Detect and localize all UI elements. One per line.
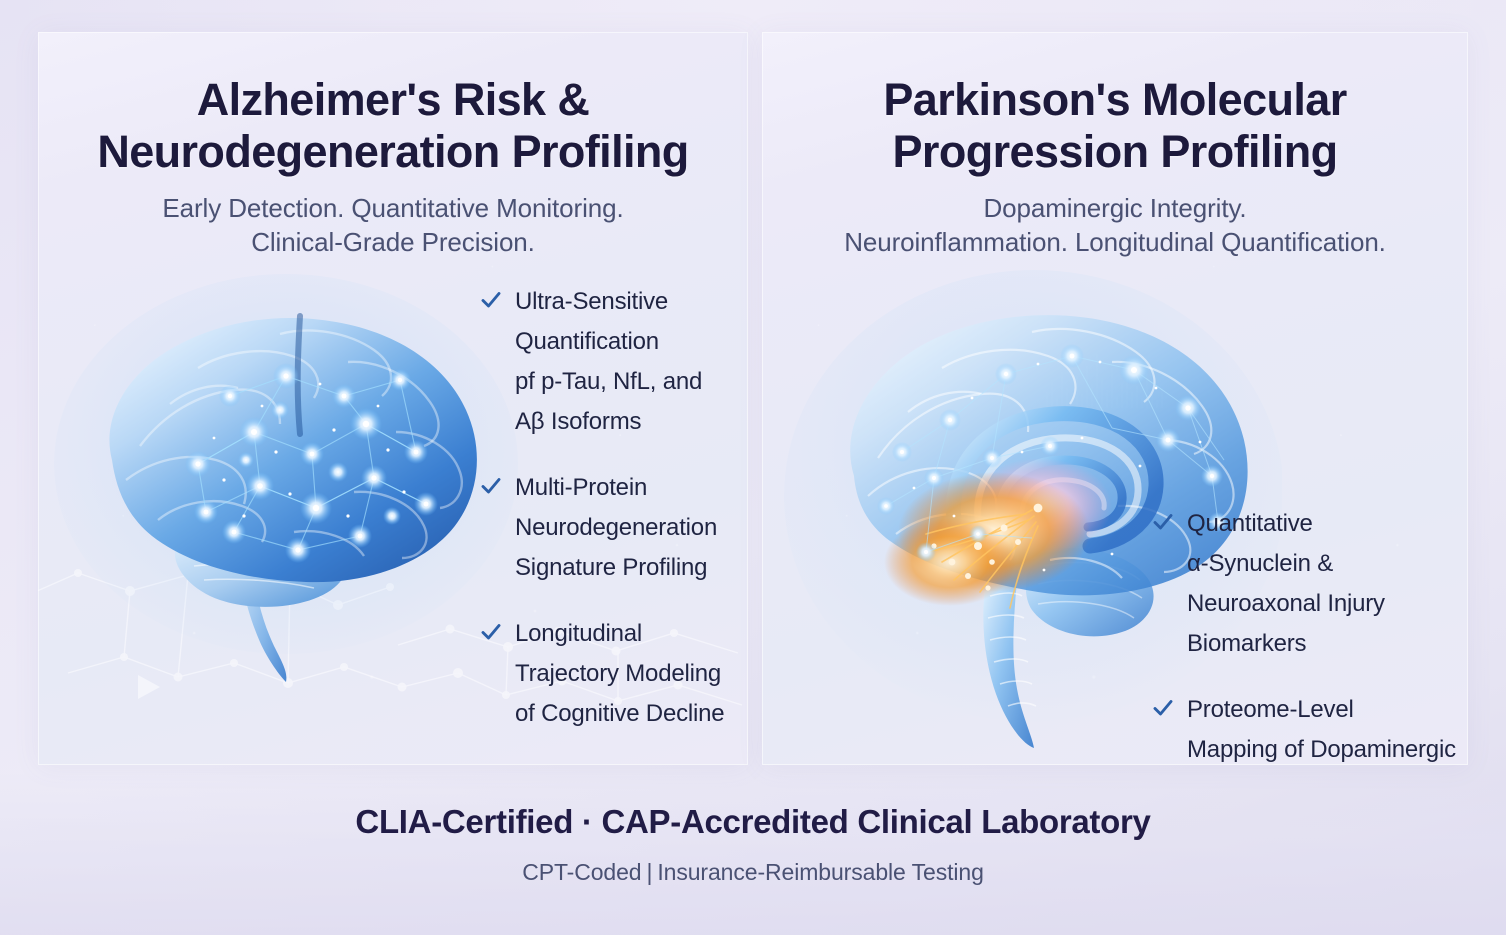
feature-label: Ultra-Sensitive Quantification pf p-Tau,… [515, 282, 702, 442]
feature-label: Longitudinal Trajectory Modeling of Cogn… [515, 614, 724, 734]
feature-list-parkinsons: Quantitative α-Synuclein & Neuroaxonal I… [1152, 504, 1462, 765]
page-title-alzheimers: Alzheimer's Risk & Neurodegeneration Pro… [38, 74, 748, 178]
footer-separator: | [641, 859, 657, 885]
check-icon [480, 475, 502, 497]
panel-parkinsons: Parkinson's Molecular Progression Profil… [762, 32, 1468, 765]
check-icon [1152, 511, 1174, 533]
panel-header-alzheimers: Alzheimer's Risk & Neurodegeneration Pro… [38, 74, 748, 259]
footer-cpt-label: CPT-Coded [522, 859, 641, 885]
feature-label: Quantitative α-Synuclein & Neuroaxonal I… [1187, 504, 1385, 664]
check-icon [480, 289, 502, 311]
footer-accreditation-text: CLIA-Certified · CAP-Accredited Clinical… [0, 802, 1506, 842]
list-item: Quantitative α-Synuclein & Neuroaxonal I… [1152, 504, 1462, 664]
brain-illustration-alzheimers [48, 264, 518, 694]
feature-label: Proteome-Level Mapping of Dopaminergic C… [1187, 690, 1456, 765]
feature-list-alzheimers: Ultra-Sensitive Quantification pf p-Tau,… [480, 282, 748, 734]
poster-stage: Alzheimer's Risk & Neurodegeneration Pro… [0, 0, 1506, 935]
list-item: Longitudinal Trajectory Modeling of Cogn… [480, 614, 748, 734]
list-item: Ultra-Sensitive Quantification pf p-Tau,… [480, 282, 748, 442]
panel-header-parkinsons: Parkinson's Molecular Progression Profil… [762, 74, 1468, 259]
panel-alzheimers: Alzheimer's Risk & Neurodegeneration Pro… [38, 32, 748, 765]
page-subtitle-alzheimers: Early Detection. Quantitative Monitoring… [38, 191, 748, 259]
check-icon [1152, 697, 1174, 719]
mass-spectrum-pattern [1042, 350, 1172, 408]
feature-label: Multi-Protein Neurodegeneration Signatur… [515, 468, 717, 588]
list-item: Multi-Protein Neurodegeneration Signatur… [480, 468, 748, 588]
footer-insurance-label: Insurance-Reimbursable Testing [657, 859, 983, 885]
check-icon [480, 621, 502, 643]
footer: CLIA-Certified · CAP-Accredited Clinical… [0, 772, 1506, 935]
page-subtitle-parkinsons: Dopaminergic Integrity. Neuroinflammatio… [762, 191, 1468, 259]
footer-billing-text: CPT-Coded|Insurance-Reimbursable Testing [0, 857, 1506, 887]
list-item: Proteome-Level Mapping of Dopaminergic C… [1152, 690, 1462, 765]
page-title-parkinsons: Parkinson's Molecular Progression Profil… [762, 74, 1468, 178]
